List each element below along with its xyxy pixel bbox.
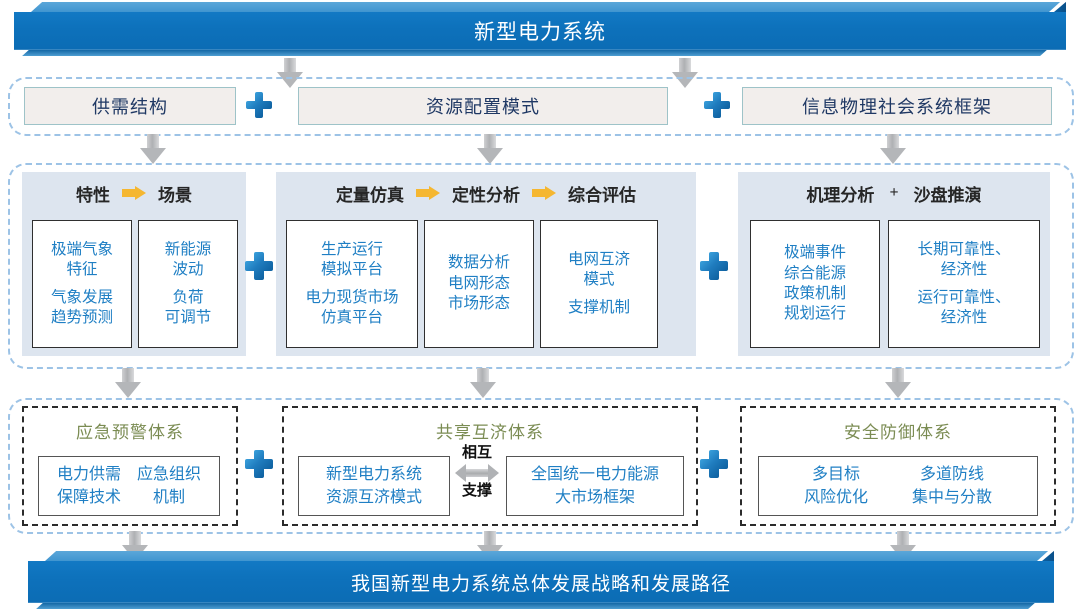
row1-box-label: 资源配置模式 bbox=[426, 93, 540, 119]
down-arrow-icon bbox=[140, 134, 166, 164]
row2-card[interactable]: 数据分析 电网形态 市场形态 bbox=[424, 220, 534, 348]
row3-group-emergency: 应急预警体系 电力供需 保障技术 应急组织 机制 bbox=[22, 406, 238, 526]
row2-panel-characteristics: 特性 场景 极端气象 特征 气象发展 趋势预测 新能源 波动 负荷 可调节 bbox=[22, 172, 246, 356]
header-segment: 定性分析 bbox=[452, 181, 520, 206]
down-arrow-icon bbox=[885, 368, 911, 398]
row1-box-label: 信息物理社会系统框架 bbox=[802, 93, 992, 119]
row2-card[interactable]: 长期可靠性、 经济性 运行可靠性、 经济性 bbox=[888, 220, 1040, 348]
row1-box-supply-demand[interactable]: 供需结构 bbox=[24, 87, 236, 125]
plus-icon bbox=[245, 252, 273, 280]
down-arrow-icon bbox=[470, 368, 496, 398]
mutual-label-top: 相互 bbox=[454, 446, 500, 462]
header-segment: 综合评估 bbox=[568, 181, 636, 206]
plus-icon bbox=[700, 450, 728, 478]
row3-card[interactable]: 电力供需 保障技术 应急组织 机制 bbox=[38, 456, 220, 516]
banner-bottom-bevel bbox=[22, 49, 1048, 56]
plus-icon bbox=[700, 252, 728, 280]
plus-icon bbox=[245, 450, 273, 478]
header-segment: 特性 bbox=[76, 181, 110, 206]
header-segment: 场景 bbox=[158, 181, 192, 206]
down-arrow-icon bbox=[477, 134, 503, 164]
row3-card-column: 多目标 风险优化 bbox=[782, 463, 890, 509]
mutual-label-bottom: 支撑 bbox=[454, 484, 500, 500]
row2-panel-header: 机理分析 + 沙盘推演 bbox=[738, 172, 1050, 214]
down-arrow-icon bbox=[880, 134, 906, 164]
row2-panel-mechanism: 机理分析 + 沙盘推演 极端事件 综合能源 政策机制 规划运行 长期可靠性、 经… bbox=[738, 172, 1050, 356]
banner-bottom-bevel bbox=[36, 602, 1036, 609]
diagram-canvas: 新型电力系统 供需结构 资源配置模式 信息物理社会系统框架 特性 场景 极端气象… bbox=[0, 0, 1080, 615]
arrow-right-icon bbox=[122, 186, 146, 200]
row3-card-column: 全国统一电力能源 大市场框架 bbox=[523, 463, 667, 509]
top-banner-title: 新型电力系统 bbox=[14, 12, 1066, 50]
row3-group-defense: 安全防御体系 多目标 风险优化 多道防线 集中与分散 bbox=[740, 406, 1056, 526]
row2-panel-header: 特性 场景 bbox=[22, 172, 246, 214]
bidirectional-arrow-icon bbox=[455, 464, 499, 482]
row3-group-header: 安全防御体系 bbox=[742, 416, 1054, 444]
row2-card[interactable]: 极端气象 特征 气象发展 趋势预测 bbox=[32, 220, 132, 348]
header-segment: 机理分析 bbox=[806, 181, 874, 206]
header-plus-symbol: + bbox=[889, 184, 898, 202]
row3-group-sharing: 共享互济体系 新型电力系统 资源互济模式 相互 支撑 全国统一电力能源 大市场框… bbox=[282, 406, 698, 526]
row2-card[interactable]: 新能源 波动 负荷 可调节 bbox=[138, 220, 238, 348]
row3-group-header: 共享互济体系 bbox=[284, 416, 696, 444]
row2-panel-simulation: 定量仿真 定性分析 综合评估 生产运行 模拟平台 电力现货市场 仿真平台 数据分… bbox=[276, 172, 696, 356]
row3-group-header: 应急预警体系 bbox=[24, 416, 236, 444]
row3-card[interactable]: 多目标 风险优化 多道防线 集中与分散 bbox=[758, 456, 1038, 516]
row1-box-cpss-framework[interactable]: 信息物理社会系统框架 bbox=[742, 87, 1052, 125]
row2-panel-header: 定量仿真 定性分析 综合评估 bbox=[276, 172, 696, 214]
row2-card[interactable]: 生产运行 模拟平台 电力现货市场 仿真平台 bbox=[286, 220, 418, 348]
row2-card[interactable]: 极端事件 综合能源 政策机制 规划运行 bbox=[750, 220, 880, 348]
header-segment: 定量仿真 bbox=[336, 181, 404, 206]
top-banner: 新型电力系统 bbox=[14, 2, 1066, 56]
plus-icon bbox=[246, 92, 272, 118]
arrow-right-icon bbox=[532, 186, 556, 200]
row3-card-column: 新型电力系统 资源互济模式 bbox=[318, 463, 430, 509]
row3-card-left[interactable]: 新型电力系统 资源互济模式 bbox=[298, 456, 450, 516]
plus-icon bbox=[704, 92, 730, 118]
down-arrow-icon bbox=[115, 368, 141, 398]
row3-card-column: 多道防线 集中与分散 bbox=[890, 463, 1014, 509]
row1-box-label: 供需结构 bbox=[92, 93, 168, 119]
row2-card[interactable]: 电网互济 模式 支撑机制 bbox=[540, 220, 658, 348]
bottom-banner: 我国新型电力系统总体发展战略和发展路径 bbox=[28, 551, 1054, 609]
row3-card-column: 电力供需 保障技术 bbox=[49, 463, 129, 509]
arrow-right-icon bbox=[416, 186, 440, 200]
mutual-support-connector: 相互 支撑 bbox=[454, 446, 500, 500]
header-segment: 沙盘推演 bbox=[914, 181, 982, 206]
row3-card-right[interactable]: 全国统一电力能源 大市场框架 bbox=[506, 456, 684, 516]
row3-card-column: 应急组织 机制 bbox=[129, 463, 209, 509]
bottom-banner-title: 我国新型电力系统总体发展战略和发展路径 bbox=[28, 561, 1054, 603]
row1-box-resource-allocation[interactable]: 资源配置模式 bbox=[298, 87, 668, 125]
